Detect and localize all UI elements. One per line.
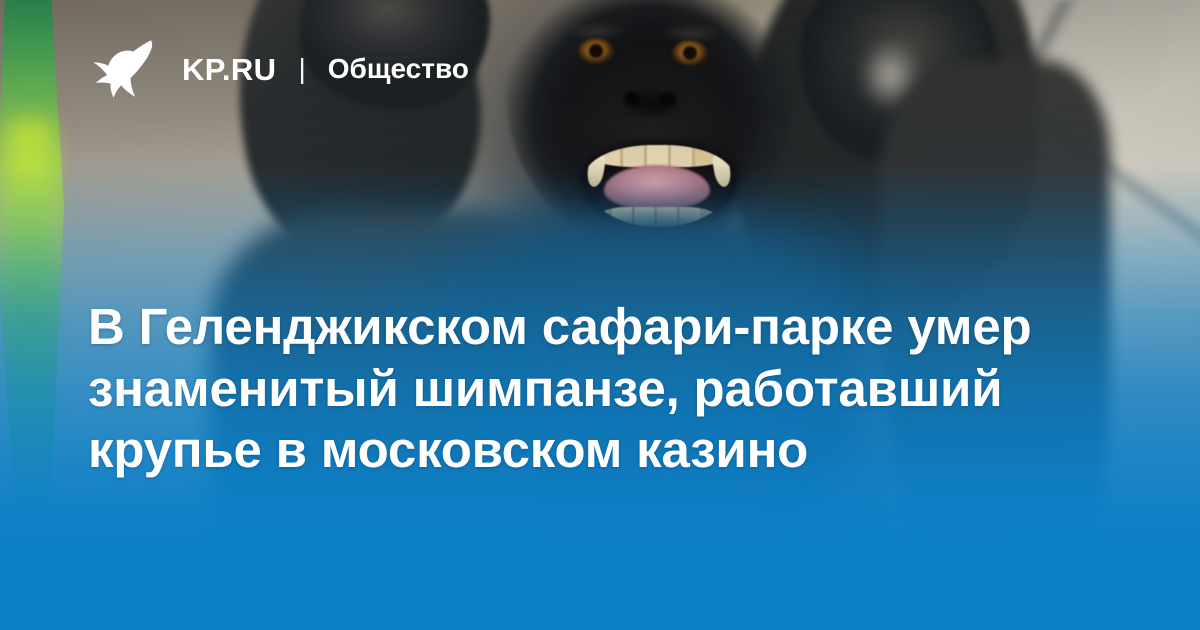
swallow-bird-logo-icon[interactable] <box>88 36 154 102</box>
page-title: В Геленджикском сафари-парке умер знамен… <box>88 296 1098 481</box>
header-separator: | <box>298 55 305 83</box>
brand-label[interactable]: KP.RU <box>182 54 276 85</box>
site-header: KP.RU | Общество <box>88 36 469 102</box>
blue-solid-overlay <box>0 460 1200 630</box>
social-share-card: KP.RU | Общество В Геленджикском сафари-… <box>0 0 1200 630</box>
rubric-label[interactable]: Общество <box>328 55 469 83</box>
